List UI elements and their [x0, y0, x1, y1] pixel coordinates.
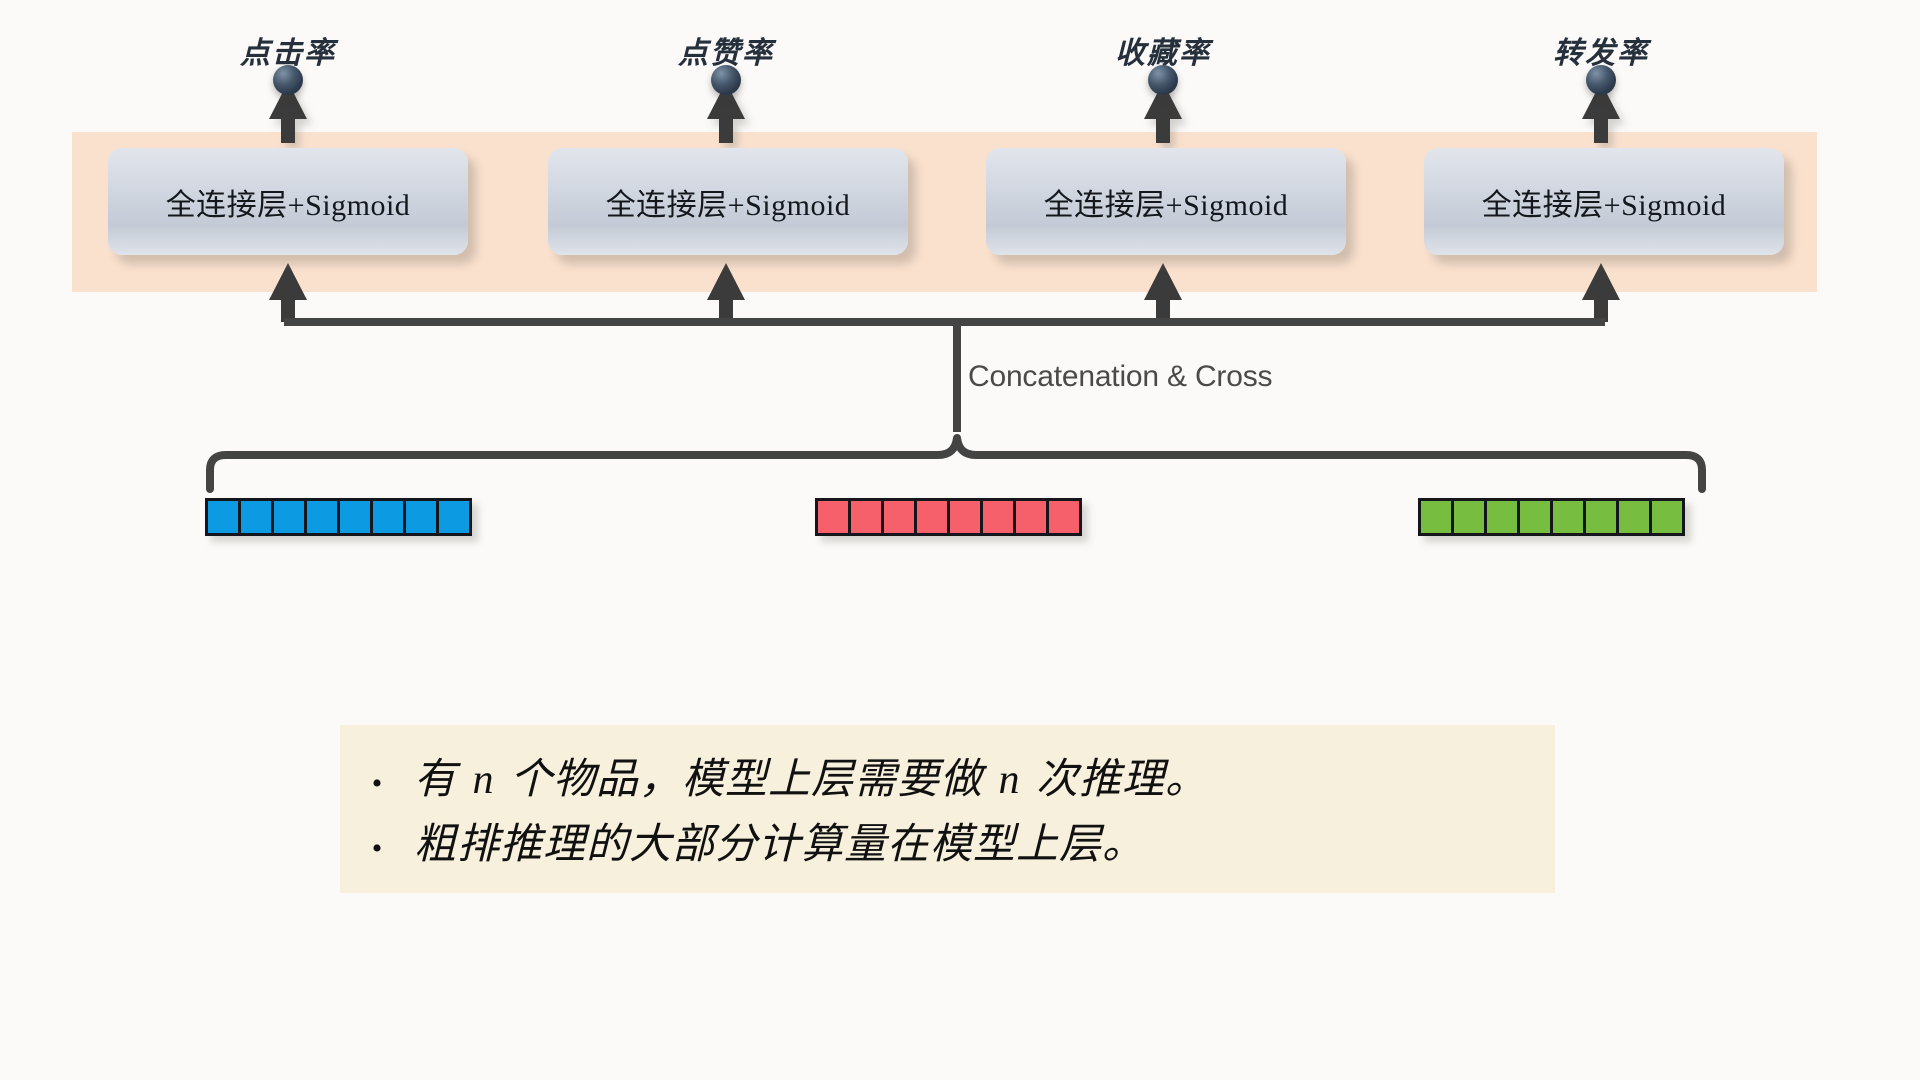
tower-box-label: 全连接层+Sigmoid [1044, 180, 1289, 224]
tower-box-ctr[interactable]: 全连接层+Sigmoid [108, 148, 468, 255]
feature-vector-blue [205, 498, 472, 536]
feature-cell [1046, 498, 1082, 536]
feature-cell [1616, 498, 1652, 536]
feature-vector-red [815, 498, 1082, 536]
concatenation-cross-label: Concatenation & Cross [968, 360, 1272, 394]
note-item: • 有 n 个物品，模型上层需要做 n 次推理。 [340, 743, 1555, 808]
diagram-canvas: 点击率 点赞率 收藏率 转发率 全连接层+Sigmoid 全连接层+Sigmoi… [0, 0, 1920, 1080]
feature-cell [1418, 498, 1454, 536]
note-variable-n: n [469, 757, 499, 803]
tower-box-label: 全连接层+Sigmoid [606, 180, 851, 224]
bullet-glyph: • [340, 769, 414, 799]
note-item: • 粗排推理的大部分计算量在模型上层。 [340, 808, 1555, 873]
feature-cell [1517, 498, 1553, 536]
feature-cell [1484, 498, 1520, 536]
note-line-1: 有 n 个物品，模型上层需要做 n 次推理。 [414, 745, 1208, 806]
feature-cell [271, 498, 307, 536]
feature-cell [403, 498, 439, 536]
tower-box-share[interactable]: 全连接层+Sigmoid [1424, 148, 1784, 255]
output-node-favorite [1148, 65, 1178, 95]
note-callout: • 有 n 个物品，模型上层需要做 n 次推理。 • 粗排推理的大部分计算量在模… [340, 725, 1555, 893]
feature-cell [370, 498, 406, 536]
tower-box-like[interactable]: 全连接层+Sigmoid [548, 148, 908, 255]
note-text-segment: 个物品，模型上层需要做 [499, 757, 995, 803]
output-node-share [1586, 65, 1616, 95]
feature-cell [304, 498, 340, 536]
feature-cell [1550, 498, 1586, 536]
tower-box-label: 全连接层+Sigmoid [166, 180, 411, 224]
feature-cell [1013, 498, 1049, 536]
feature-cell [947, 498, 983, 536]
feature-cell [436, 498, 472, 536]
fanout-bus [284, 322, 1605, 432]
feature-cell [337, 498, 373, 536]
note-text-segment: 次推理。 [1025, 757, 1209, 803]
feature-cell [881, 498, 917, 536]
feature-cell [848, 498, 884, 536]
feature-cell [1649, 498, 1685, 536]
feature-cell [914, 498, 950, 536]
tower-box-label: 全连接层+Sigmoid [1482, 180, 1727, 224]
note-line-2: 粗排推理的大部分计算量在模型上层。 [414, 810, 1145, 871]
feature-cell [980, 498, 1016, 536]
feature-vector-green [1418, 498, 1685, 536]
tower-box-favorite[interactable]: 全连接层+Sigmoid [986, 148, 1346, 255]
feature-cell [1451, 498, 1487, 536]
note-text-segment: 粗排推理的大部分计算量在模型上层。 [414, 822, 1145, 868]
feature-cell [238, 498, 274, 536]
note-variable-n: n [995, 757, 1025, 803]
feature-cell [815, 498, 851, 536]
output-node-like [711, 65, 741, 95]
feature-gather-brace [210, 438, 1702, 489]
feature-cell [1583, 498, 1619, 536]
feature-cell [205, 498, 241, 536]
output-node-ctr [273, 65, 303, 95]
bullet-glyph: • [340, 834, 414, 864]
note-text-segment: 有 [414, 757, 469, 803]
